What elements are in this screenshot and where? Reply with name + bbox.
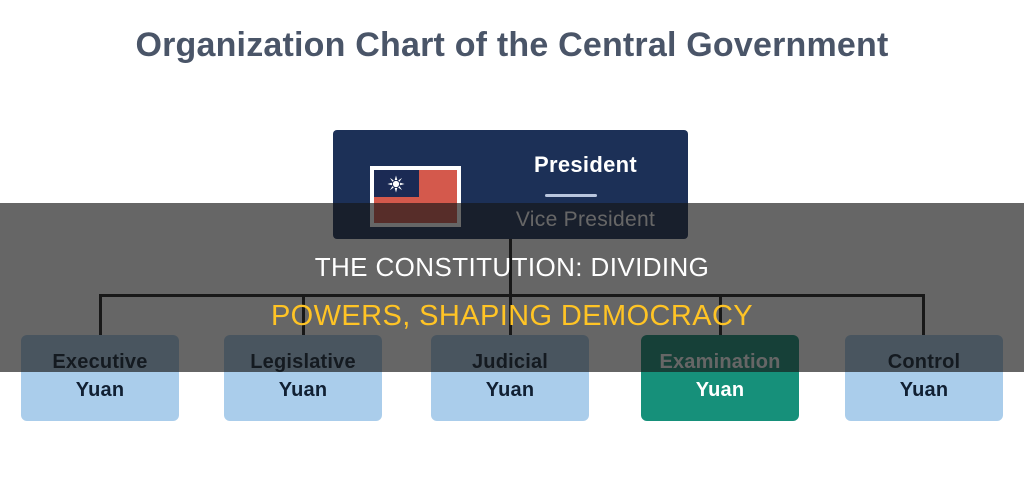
page-title: Organization Chart of the Central Govern… <box>0 26 1024 65</box>
branch-label-line1: Executive <box>21 351 179 374</box>
branch-label-line1: Control <box>845 351 1003 374</box>
branch-node-judicial-yuan[interactable]: Judicial Yuan <box>431 335 589 421</box>
president-label: President <box>483 152 688 178</box>
branch-label-line1: Legislative <box>224 351 382 374</box>
branch-label-line2: Yuan <box>21 379 179 402</box>
branch-label-line2: Yuan <box>641 379 799 402</box>
organization-chart-canvas: Organization Chart of the Central Govern… <box>0 0 1024 479</box>
overlay-caption-line2: POWERS, SHAPING DEMOCRACY <box>0 300 1024 333</box>
branch-node-legislative-yuan[interactable]: Legislative Yuan <box>224 335 382 421</box>
branch-label-line1: Examination <box>641 351 799 374</box>
president-text-group: President Vice President <box>483 130 688 239</box>
taiwan-flag-icon <box>370 166 461 227</box>
white-sun-icon <box>387 175 405 193</box>
branch-label-line2: Yuan <box>224 379 382 402</box>
connector-horizontal-bus <box>99 294 925 297</box>
overlay-caption-line1: THE CONSTITUTION: DIVIDING <box>0 252 1024 283</box>
branch-label-line1: Judicial <box>431 351 589 374</box>
vice-president-label: Vice President <box>483 208 688 232</box>
flag-canton <box>374 170 419 197</box>
branch-label-line2: Yuan <box>845 379 1003 402</box>
president-node[interactable]: President Vice President <box>333 130 688 239</box>
branch-node-examination-yuan[interactable]: Examination Yuan <box>641 335 799 421</box>
branch-node-control-yuan[interactable]: Control Yuan <box>845 335 1003 421</box>
branch-label-line2: Yuan <box>431 379 589 402</box>
branch-node-executive-yuan[interactable]: Executive Yuan <box>21 335 179 421</box>
president-divider <box>545 194 597 197</box>
